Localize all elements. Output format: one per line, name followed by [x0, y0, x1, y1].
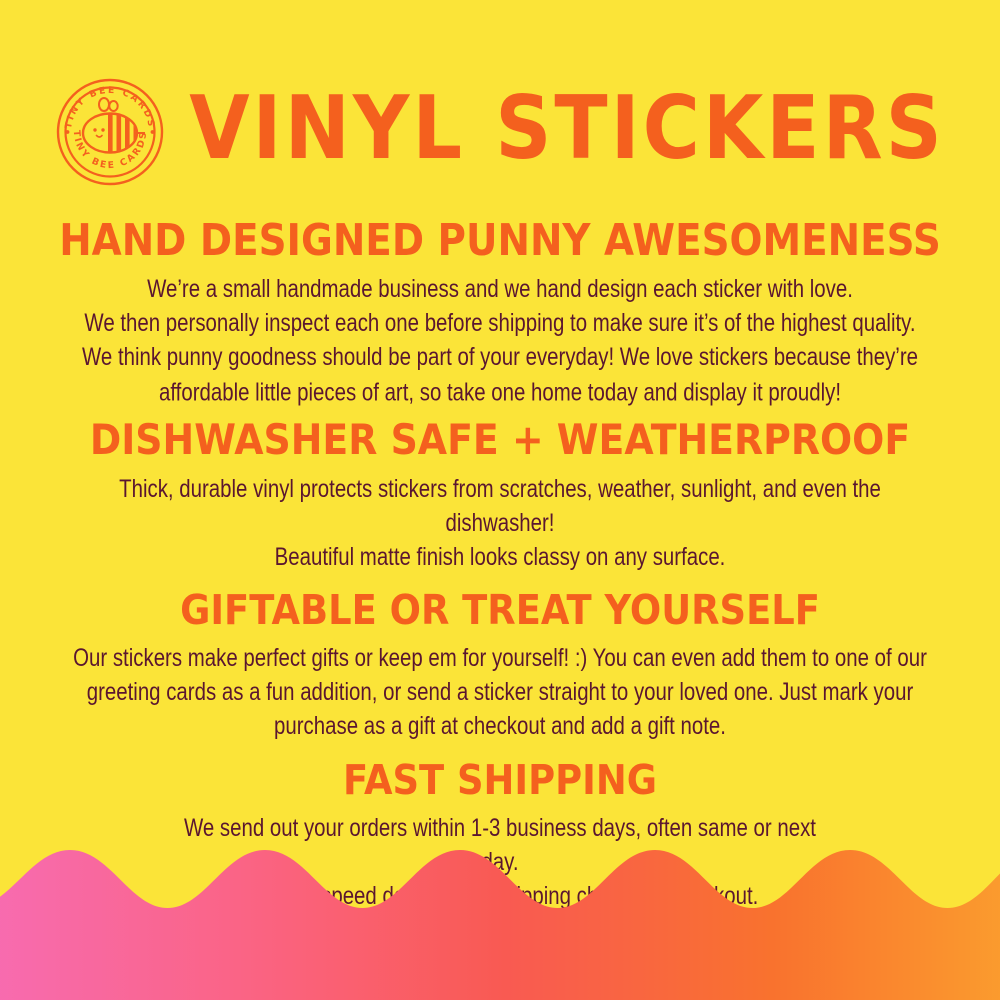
tiny-bee-cards-badge-icon: TINY BEE CARDS TINY BEE CARDS — [55, 77, 165, 187]
section-heading: GIFTABLE OR TREAT YOURSELF — [44, 588, 956, 635]
section-heading: DISHWASHER SAFE + WEATHERPROOF — [44, 417, 956, 465]
section-heading: HAND DESIGNED PUNNY AWESOMENESS — [44, 216, 956, 266]
section-heading: FAST SHIPPING — [44, 757, 956, 804]
page-title: VINYL STICKERS — [189, 85, 945, 179]
section-body-line: We’re a small handmade business and we h… — [73, 272, 928, 306]
section-body-line: Thick, durable vinyl protects stickers f… — [87, 472, 914, 541]
section-giftable: GIFTABLE OR TREAT YOURSELF Our stickers … — [30, 589, 970, 728]
section-body: Our stickers make perfect gifts or keep … — [73, 641, 928, 744]
section-body-line: Beautiful matte finish looks classy on a… — [87, 541, 914, 575]
section-body-line: Our stickers make perfect gifts or keep … — [73, 641, 928, 744]
poster-canvas: TINY BEE CARDS TINY BEE CARDS — [0, 0, 1000, 1000]
content-sections: HAND DESIGNED PUNNY AWESOMENESS We’re a … — [0, 218, 1000, 898]
section-body: We’re a small handmade business and we h… — [73, 272, 928, 410]
section-body-line: We then personally inspect each one befo… — [73, 306, 928, 409]
section-dishwasher-safe: DISHWASHER SAFE + WEATHERPROOF Thick, du… — [30, 419, 970, 560]
section-hand-designed: HAND DESIGNED PUNNY AWESOMENESS We’re a … — [30, 218, 970, 389]
header: TINY BEE CARDS TINY BEE CARDS — [0, 72, 1000, 192]
section-body: Thick, durable vinyl protects stickers f… — [87, 472, 914, 575]
wave-path — [0, 850, 1000, 1000]
wavy-gradient-band — [0, 840, 1000, 1000]
